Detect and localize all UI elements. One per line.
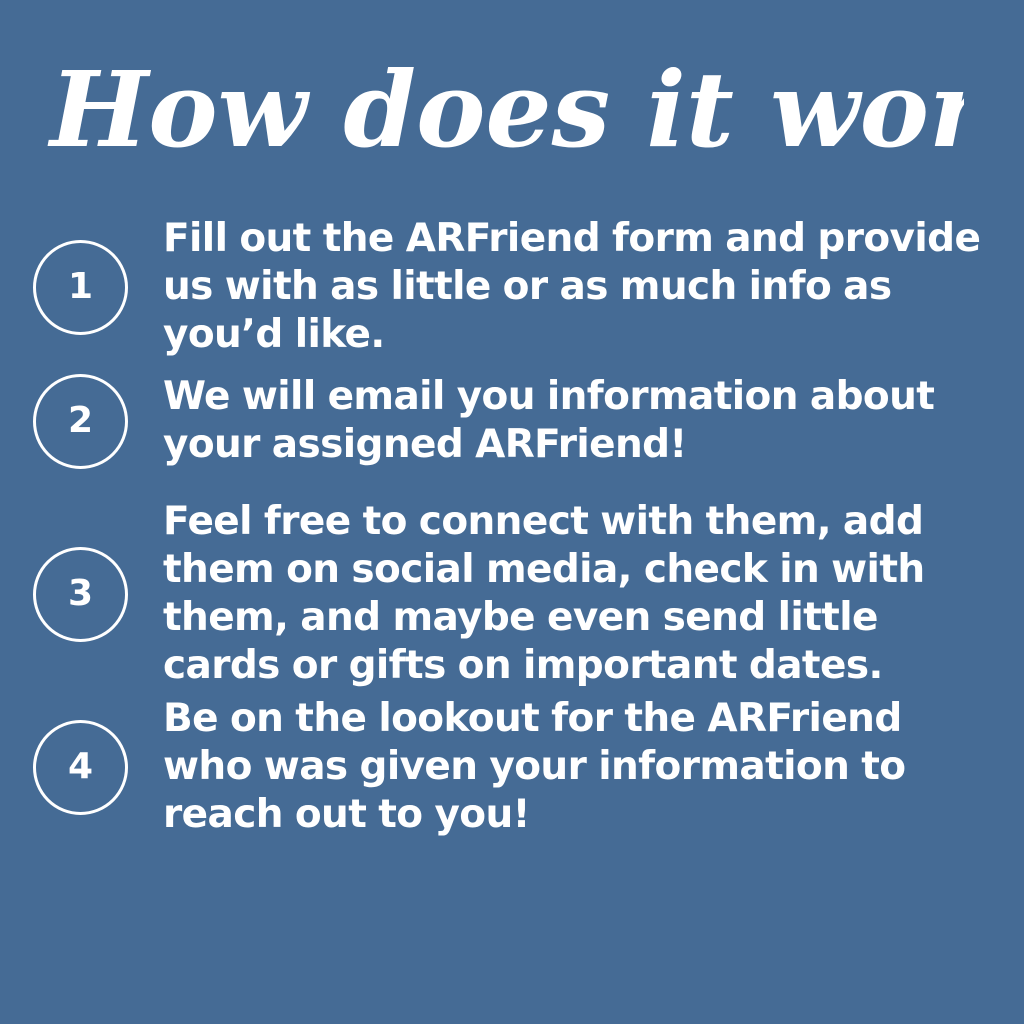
list-item: 2 We will email you information about yo… <box>0 346 1024 496</box>
step-body: Be on the lookout for the ARFriend who w… <box>128 695 1024 839</box>
title-label: How does it work? <box>47 48 964 171</box>
step-text: We will email you information about your… <box>163 373 994 469</box>
steps-list: 1 Fill out the ARFriend form and provide… <box>0 228 1024 842</box>
poster-canvas: How does it work? 1 Fill out the ARFrien… <box>0 0 1024 1024</box>
title-script-text: How does it work? <box>44 46 964 176</box>
step-number-label: 4 <box>68 749 93 785</box>
list-item: 3 Feel free to connect with them, add th… <box>0 496 1024 692</box>
step-number-label: 1 <box>68 269 93 305</box>
step-number-badge: 3 <box>33 547 128 642</box>
step-number-label: 3 <box>68 576 93 612</box>
list-item: 1 Fill out the ARFriend form and provide… <box>0 228 1024 346</box>
page-title: How does it work? <box>44 46 964 176</box>
step-text: Be on the lookout for the ARFriend who w… <box>163 695 994 839</box>
step-text: Feel free to connect with them, add them… <box>163 498 994 690</box>
step-body: Feel free to connect with them, add them… <box>128 498 1024 690</box>
step-body: Fill out the ARFriend form and provide u… <box>128 215 1024 359</box>
step-text: Fill out the ARFriend form and provide u… <box>163 215 994 359</box>
step-number-badge: 4 <box>33 720 128 815</box>
step-number-badge: 2 <box>33 374 128 469</box>
step-body: We will email you information about your… <box>128 373 1024 469</box>
step-number-badge: 1 <box>33 240 128 335</box>
list-item: 4 Be on the lookout for the ARFriend who… <box>0 692 1024 842</box>
step-number-label: 2 <box>68 403 93 439</box>
